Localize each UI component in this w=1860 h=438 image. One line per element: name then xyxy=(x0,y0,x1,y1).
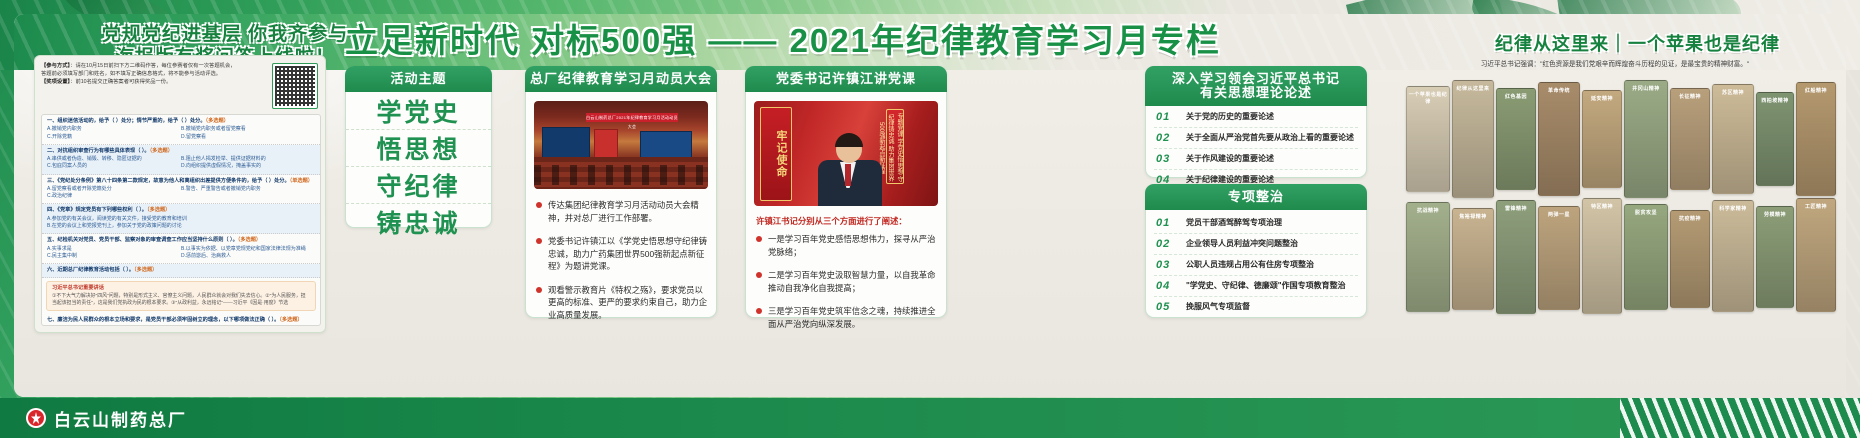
quiz-option[interactable]: C.民主集中制 xyxy=(47,253,181,260)
lecture-bullets: 一是学习百年党史感悟思想伟力，探寻从严治党脉络； 二是学习百年党史汲取智慧力量，… xyxy=(756,233,938,341)
lecture-card-title: 党委书记许镇江讲党课 xyxy=(745,66,947,92)
theory-item: 02 关于全面从严治党首先要从政治上看的重要论述 xyxy=(1154,128,1358,149)
rectification-card: 专项整治 01 党员干部酒驾醉驾专项治理 02 企业领导人员利益冲突问题整治 0… xyxy=(1145,184,1367,318)
quiz-question-text: 六、近期总厂纪律教育活动包括（ ）。 xyxy=(47,267,134,273)
quiz-question-title: 二、对抗组织审查行为有哪些具体表现（ ）。（多选题） xyxy=(47,148,315,155)
poster-thumbnail: 特区精神 xyxy=(1582,198,1622,314)
poster-caption: 长征精神 xyxy=(1671,93,1709,100)
poster-thumbnail: 雷锋精神 xyxy=(1496,200,1536,314)
quiz-notice: 【参与方式】：请在10月15日前扫下方二维码作答，每位参赛者仅有一次答题机会，答… xyxy=(41,62,237,86)
speaker-tie xyxy=(845,164,851,186)
rectification-item-text: 挽服风气专项监督 xyxy=(1186,301,1250,312)
bullet-item: 观看警示教育片《特权之殇》，要求党员以更高的标准、更严的要求约束自己，助力企业高… xyxy=(536,284,708,322)
rectification-item-number: 04 xyxy=(1156,280,1176,292)
bullet-dot-icon xyxy=(536,238,542,244)
poster-caption: 纪律从这里来 xyxy=(1453,85,1493,92)
theory-item-list: 01 关于党的历史的重要论述 02 关于全面从严治党首先要从政治上看的重要论述 … xyxy=(1146,107,1366,177)
quiz-option[interactable]: C.政治纪律 xyxy=(47,193,181,200)
quiz-note: 习近平总书记重要讲话 ①不下大气力解决好"四风"问题，特别是形式主义、官僚主义问… xyxy=(46,281,316,311)
quiz-option[interactable]: C.包庇同案人员的 xyxy=(47,163,181,170)
poster-caption: 红色基因 xyxy=(1497,93,1535,100)
quiz-note-body: ①不下大气力解决好"四风"问题，特别是形式主义、官僚主义问题，人民群众就会对我们… xyxy=(52,293,310,307)
conference-hall-photo: 白云山制药总厂2021年纪律教育学习月活动动员大会 xyxy=(534,101,708,189)
poster-caption: 苏区精神 xyxy=(1713,89,1753,96)
quiz-question-text: 四、《党章》规定党员有下列哪些权利（ ）。 xyxy=(47,207,147,213)
qr-code-pattern xyxy=(275,66,315,106)
quiz-option[interactable]: A.实事求是 xyxy=(47,246,181,253)
lecture-lead-text: 许镇江书记分别从三个方面进行了阐述： xyxy=(756,215,938,227)
quiz-option[interactable]: B.撤销党内职务或者留党察看 xyxy=(181,126,315,133)
rectification-item-number: 01 xyxy=(1156,217,1176,229)
theory-card-title-line1: 深入学习领会习近平总书记 xyxy=(1172,72,1340,86)
poster-thumbnail: 脱贫攻坚 xyxy=(1624,204,1668,310)
bullet-item: 三是学习百年党史筑牢信念之魂，持续推进全面从严治党向纵深发展。 xyxy=(756,305,938,330)
photo-wall: 一个苹果也是纪律纪律从这里来红色基因革命传统延安精神井冈山精神长征精神苏区精神西… xyxy=(1398,78,1838,318)
quiz-option[interactable]: B.在党的会议上和党报党刊上，参加关于党的政策问题的讨论 xyxy=(47,223,315,230)
rectification-item-number: 02 xyxy=(1156,238,1176,250)
bullet-text: 二是学习百年党史汲取智慧力量，以自我革命推动自我净化自我提高； xyxy=(768,269,938,294)
quiz-question-text: 五、纪检机关对党员、党员干部、监察对象的审查调查工作应当坚持什么原则（ ）。 xyxy=(47,237,238,243)
theme-item: 学党史 xyxy=(346,93,491,130)
audience-silhouettes xyxy=(534,165,708,185)
rectification-item-number: 05 xyxy=(1156,301,1176,313)
rectification-card-title: 专项整治 xyxy=(1145,184,1367,210)
rectification-item-text: 企业领导人员利益冲突问题整治 xyxy=(1186,238,1298,249)
quiz-question: 二、对抗组织审查行为有哪些具体表现（ ）。（多选题） A.串供或者伪造、销毁、转… xyxy=(42,145,320,175)
theory-card-title: 深入学习领会习近平总书记 有关思想理论论述 xyxy=(1145,66,1367,106)
headline-center: 立足新时代 对标500强 —— 2021年纪律教育学习月专栏 xyxy=(345,22,1221,60)
poster-caption: 抗疫精神 xyxy=(1671,215,1709,222)
quiz-option[interactable]: B.以事实为依据、以党章党规党纪和国家法律法规为准绳 xyxy=(181,246,315,253)
quiz-notice-label-2: 【奖项设置】 xyxy=(41,79,70,85)
quiz-question: 三、《党纪处分条例》第八十四条第二款规定，故意为他人和离组织出差提供方便条件的，… xyxy=(42,175,320,205)
theme-item: 悟思想 xyxy=(346,130,491,167)
poster-caption: 科学家精神 xyxy=(1713,205,1753,212)
quiz-notice-text-2: ：前10名提交正确答案者可获得奖品一份。 xyxy=(70,79,171,85)
speaker-hair xyxy=(835,133,863,147)
quiz-options: A.实事求是 B.以事实为依据、以党章党规党纪和国家法律法规为准绳 C.民主集中… xyxy=(47,246,315,260)
quiz-question-tag: （单选题） xyxy=(290,178,313,184)
poster-caption: 特区精神 xyxy=(1583,203,1621,210)
quiz-option[interactable]: D.向组织提供虚假情况，掩盖事实的 xyxy=(181,163,315,170)
bullet-item: 二是学习百年党史汲取智慧力量，以自我革命推动自我净化自我提高； xyxy=(756,269,938,294)
theory-card-title-line2: 有关思想理论论述 xyxy=(1172,86,1340,100)
quiz-question: 七、廉洁为民人民群众的根本立场和要求，是党员干部必须牢固树立的理念，以下哪项做法… xyxy=(42,314,320,326)
bullet-text: 三是学习百年党史筑牢信念之魂，持续推进全面从严治党向纵深发展。 xyxy=(768,305,938,330)
poster-caption: 雷锋精神 xyxy=(1497,205,1535,212)
theory-item-text: 关于全面从严治党首先要从政治上看的重要论述 xyxy=(1186,132,1354,143)
bullet-text: 传达集团纪律教育学习月活动动员大会精神，并对总厂进行工作部署。 xyxy=(548,199,708,224)
rectification-item: 02 企业领导人员利益冲突问题整治 xyxy=(1154,234,1358,255)
photo-wall-note: 习近平总书记强调："红色资源是我们党艰辛而辉煌奋斗历程的见证，是最宝贵的精神财富… xyxy=(1400,60,1830,70)
poster-thumbnail: 焦裕禄精神 xyxy=(1452,208,1494,310)
quiz-question-text: 二、对抗组织审查行为有哪些具体表现（ ）。 xyxy=(47,148,150,154)
poster-caption: 劳模精神 xyxy=(1757,211,1793,218)
poster-thumbnail: 长征精神 xyxy=(1670,88,1710,190)
theme-item: 守纪律 xyxy=(346,167,491,204)
quiz-question-title: 七、廉洁为民人民群众的根本立场和要求，是党员干部必须牢固树立的理念，以下哪项做法… xyxy=(47,317,315,324)
quiz-question-tag: （多选题） xyxy=(150,148,173,154)
quiz-option[interactable]: B.警告、严重警告或者撤销党内职务 xyxy=(181,186,315,193)
theme-card: 活动主题 学党史 悟思想 守纪律 铸忠诚 xyxy=(345,66,492,228)
projection-screen-icon xyxy=(542,127,590,159)
poster-caption: 井冈山精神 xyxy=(1625,85,1667,92)
footer-logo: 白云山制药总厂 xyxy=(26,406,187,431)
quiz-option[interactable]: D.留党察看 xyxy=(181,134,315,141)
poster-caption: 焦裕禄精神 xyxy=(1453,213,1493,220)
quiz-question-list: 一、组织迷信活动的，给予（ ）处分；情节严重的，给予（ ）处分。（多选题） A.… xyxy=(41,114,321,326)
quiz-question-text: 一、组织迷信活动的，给予（ ）处分；情节严重的，给予（ ）处分。 xyxy=(47,118,206,124)
theme-item: 铸忠诚 xyxy=(346,204,491,240)
poster-thumbnail: 抗疫精神 xyxy=(1670,210,1710,308)
propaganda-board: 党规党纪进基层 你我齐参与 海报版有奖问答上线啦！ 立足新时代 对标500强 —… xyxy=(0,0,1860,438)
poster-caption: 红船精神 xyxy=(1797,87,1835,94)
theory-item-number: 02 xyxy=(1156,132,1176,144)
poster-caption: 工匠精神 xyxy=(1797,203,1835,210)
quiz-question-tag: （多选题） xyxy=(279,317,302,323)
rectification-item-text: "学党史、守纪律、德廉颂"作国专项教育整治 xyxy=(1186,280,1346,291)
theory-item-number: 03 xyxy=(1156,153,1176,165)
rectification-item: 04 "学党史、守纪律、德廉颂"作国专项教育整治 xyxy=(1154,276,1358,297)
quiz-option[interactable]: D.惩前毖后、治病救人 xyxy=(181,253,315,260)
headline-right: 纪律从这里来｜一个苹果也是纪律 xyxy=(1495,30,1780,56)
theory-item-text: 关于党的历史的重要论述 xyxy=(1186,111,1274,122)
quiz-question-title: 一、组织迷信活动的，给予（ ）处分；情节严重的，给予（ ）处分。（多选题） xyxy=(47,118,315,125)
bullet-dot-icon xyxy=(536,202,542,208)
bullet-item: 传达集团纪律教育学习月活动动员大会精神，并对总厂进行工作部署。 xyxy=(536,199,708,224)
bullet-dot-icon xyxy=(756,272,762,278)
quiz-options: A.留党察看或者开除党籍处分 B.警告、严重警告或者撤销党内职务 C.政治纪律 xyxy=(47,186,315,200)
quiz-option[interactable]: C.开除党籍 xyxy=(47,134,181,141)
banner-left-text: 牢记使命 xyxy=(760,107,792,201)
poster-thumbnail: 红色基因 xyxy=(1496,88,1536,190)
poster-caption: 延安精神 xyxy=(1583,95,1621,102)
bullet-text: 观看警示教育片《特权之殇》，要求党员以更高的标准、更严的要求约束自己，助力企业高… xyxy=(548,284,708,322)
quiz-option[interactable]: A.撤销党内职务 xyxy=(47,126,181,133)
poster-thumbnail: 工匠精神 xyxy=(1796,198,1836,312)
quiz-options: A.串供或者伪造、销毁、转移、隐匿证据的 B.阻止他人揭发检举、提供证据材料的 … xyxy=(47,156,315,170)
quiz-notice-label-1: 【参与方式】 xyxy=(41,63,70,69)
theory-item: 01 关于党的历史的重要论述 xyxy=(1154,107,1358,128)
quiz-question-title: 六、近期总厂纪律教育活动包括（ ）。（多选题） xyxy=(47,267,315,274)
theory-item: 03 关于作风建设的重要论述 xyxy=(1154,149,1358,170)
banner-right-text: 专题党课 学党史悟思想 守纪律铸忠诚 助力集团世界500强新起点新征程 xyxy=(886,109,904,184)
poster-caption: 革命传统 xyxy=(1539,87,1579,94)
bullet-dot-icon xyxy=(536,287,542,293)
bullet-dot-icon xyxy=(756,308,762,314)
quiz-panel: 【参与方式】：请在10月15日前扫下方二维码作答，每位参赛者仅有一次答题机会，答… xyxy=(34,55,326,333)
headline-left-line1: 党规党纪进基层 你我齐参与 xyxy=(102,24,348,45)
poster-thumbnail: 井冈山精神 xyxy=(1624,80,1668,198)
poster-thumbnail: 延安精神 xyxy=(1582,90,1622,188)
poster-thumbnail: 两弹一星 xyxy=(1538,206,1580,310)
qr-code-icon[interactable] xyxy=(272,63,318,109)
poster-thumbnail: 红船精神 xyxy=(1796,82,1836,196)
poster-thumbnail: 革命传统 xyxy=(1538,82,1580,196)
quiz-note-title: 习近平总书记重要讲话 xyxy=(52,285,310,293)
quiz-options: A.参加党的有关会议，阅读党的有关文件，接受党的教育和培训 B.在党的会议上和党… xyxy=(47,216,315,230)
poster-thumbnail: 劳模精神 xyxy=(1756,206,1794,308)
quiz-question-tag: （多选题） xyxy=(147,207,170,213)
rectification-item-number: 03 xyxy=(1156,259,1176,271)
theory-item-text: 关于作风建设的重要论述 xyxy=(1186,153,1274,164)
rectification-item-list: 01 党员干部酒驾醉驾专项治理 02 企业领导人员利益冲突问题整治 03 公职人… xyxy=(1146,213,1366,317)
quiz-notice-text-1: ：请在10月15日前扫下方二维码作答，每位参赛者仅有一次答题机会，答题前必须填写… xyxy=(41,63,236,77)
theme-card-title: 活动主题 xyxy=(345,66,492,92)
quiz-question-tag: （多选题） xyxy=(134,267,157,273)
quiz-option[interactable]: A.参加党的有关会议，阅读党的有关文件，接受党的教育和培训 xyxy=(47,216,315,223)
poster-thumbnail: 西柏坡精神 xyxy=(1756,92,1794,186)
party-star-icon xyxy=(26,408,46,428)
quiz-options: A.撤销党内职务 B.撤销党内职务或者留党察看 C.开除党籍 D.留党察看 xyxy=(47,126,315,140)
rectification-item: 01 党员干部酒驾醉驾专项治理 xyxy=(1154,213,1358,234)
poster-caption: 脱贫攻坚 xyxy=(1625,209,1667,216)
quiz-question: 六、近期总厂纪律教育活动包括（ ）。（多选题） xyxy=(42,264,320,278)
poster-thumbnail: 一个苹果也是纪律 xyxy=(1406,86,1450,192)
poster-caption: 一个苹果也是纪律 xyxy=(1407,91,1449,105)
photo-banner: 白云山制药总厂2021年纪律教育学习月活动动员大会 xyxy=(586,113,678,122)
quiz-question-title: 五、纪检机关对党员、党员干部、监察对象的审查调查工作应当坚持什么原则（ ）。（多… xyxy=(47,237,315,244)
footer-bar: 白云山制药总厂 xyxy=(0,398,1860,438)
poster-thumbnail: 苏区精神 xyxy=(1712,84,1754,194)
rectification-item: 03 公职人员违规占用公有住房专项整治 xyxy=(1154,255,1358,276)
quiz-question-title: 四、《党章》规定党员有下列哪些权利（ ）。（多选题） xyxy=(47,207,315,214)
lecture-card: 党委书记许镇江讲党课 牢记使命 专题党课 学党史悟思想 守纪律铸忠诚 助力集团世… xyxy=(745,66,947,318)
bullet-text: 一是学习百年党史感悟思想伟力，探寻从严治党脉络； xyxy=(768,233,938,258)
poster-caption: 两弹一星 xyxy=(1539,211,1579,218)
quiz-question-text: 三、《党纪处分条例》第八十四条第二款规定，故意为他人和离组织出差提供方便条件的，… xyxy=(47,178,290,184)
quiz-question-text: 七、廉洁为民人民群众的根本立场和要求，是党员干部必须牢固树立的理念，以下哪项做法… xyxy=(47,317,279,323)
poster-thumbnail: 纪律从这里来 xyxy=(1452,80,1494,198)
mobilization-card: 总厂纪律教育学习月动员大会 白云山制药总厂2021年纪律教育学习月活动动员大会 … xyxy=(525,66,717,318)
bullet-dot-icon xyxy=(756,236,762,242)
mobilization-card-title: 总厂纪律教育学习月动员大会 xyxy=(525,66,717,92)
rectification-item-text: 公职人员违规占用公有住房专项整治 xyxy=(1186,259,1314,270)
quiz-question: 一、组织迷信活动的，给予（ ）处分；情节严重的，给予（ ）处分。（多选题） A.… xyxy=(42,115,320,145)
quiz-question-tag: （多选题） xyxy=(238,237,261,243)
quiz-question-title: 三、《党纪处分条例》第八十四条第二款规定，故意为他人和离组织出差提供方便条件的，… xyxy=(47,178,315,185)
poster-thumbnail: 科学家精神 xyxy=(1712,200,1754,312)
bullet-item: 一是学习百年党史感悟思想伟力，探寻从严治党脉络； xyxy=(756,233,938,258)
footer-stripes xyxy=(1620,398,1860,438)
footer-org-name: 白云山制药总厂 xyxy=(54,406,187,431)
bullet-item: 党委书记许镇江以《学党史悟思想守纪律铸忠诚，助力广药集团世界500强新起点新征程… xyxy=(536,235,708,273)
poster-caption: 西柏坡精神 xyxy=(1757,97,1793,104)
quiz-question: 四、《党章》规定党员有下列哪些权利（ ）。（多选题） A.参加党的有关会议，阅读… xyxy=(42,204,320,234)
poster-caption: 抗战精神 xyxy=(1407,207,1449,214)
mobilization-bullets: 传达集团纪律教育学习月活动动员大会精神，并对总厂进行工作部署。 党委书记许镇江以… xyxy=(536,199,708,332)
quiz-question-tag: （多选题） xyxy=(206,118,229,124)
bullet-text: 党委书记许镇江以《学党史悟思想守纪律铸忠诚，助力广药集团世界500强新起点新征程… xyxy=(548,235,708,273)
rectification-item-text: 党员干部酒驾醉驾专项治理 xyxy=(1186,217,1282,228)
rectification-item: 05 挽服风气专项监督 xyxy=(1154,297,1358,317)
speaker-figure-icon xyxy=(814,136,888,206)
quiz-question: 五、纪检机关对党员、党员干部、监察对象的审查调查工作应当坚持什么原则（ ）。（多… xyxy=(42,234,320,264)
poster-thumbnail: 抗战精神 xyxy=(1406,202,1450,312)
theory-item-number: 01 xyxy=(1156,111,1176,123)
party-lecture-photo: 牢记使命 专题党课 学党史悟思想 守纪律铸忠诚 助力集团世界500强新起点新征程 xyxy=(754,101,938,206)
theme-list: 学党史 悟思想 守纪律 铸忠诚 xyxy=(346,93,491,227)
theory-card: 深入学习领会习近平总书记 有关思想理论论述 01 关于党的历史的重要论述 02 … xyxy=(1145,66,1367,178)
